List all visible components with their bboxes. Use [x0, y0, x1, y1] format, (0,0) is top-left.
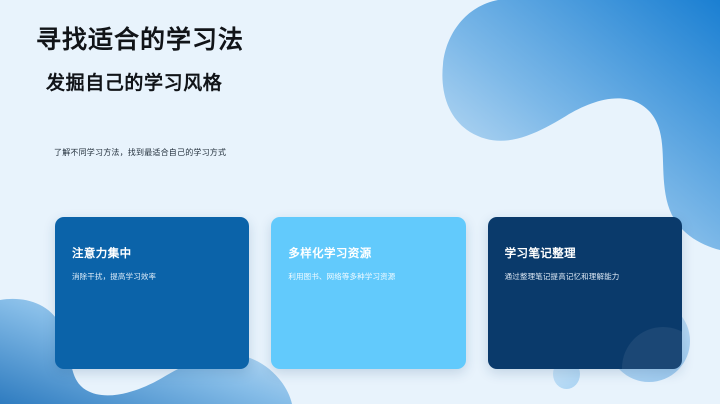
feature-card[interactable]: 多样化学习资源 利用图书、网络等多种学习资源 [271, 217, 465, 369]
feature-card-description: 利用图书、网络等多种学习资源 [288, 271, 451, 282]
feature-card-body: 学习笔记整理 通过整理笔记提高记忆和理解能力 [505, 247, 668, 282]
card-decorative-circle [622, 327, 682, 369]
wave-shape-top-right [442, 0, 720, 250]
feature-card-body: 多样化学习资源 利用图书、网络等多种学习资源 [288, 247, 451, 282]
feature-card-title: 注意力集中 [72, 247, 235, 262]
feature-card-description: 通过整理笔记提高记忆和理解能力 [505, 271, 668, 282]
feature-card-body: 注意力集中 消除干扰，提高学习效率 [72, 247, 235, 282]
feature-card[interactable]: 注意力集中 消除干扰，提高学习效率 [55, 217, 249, 369]
feature-card-row: 注意力集中 消除干扰，提高学习效率 多样化学习资源 利用图书、网络等多种学习资源… [55, 217, 682, 369]
feature-card-title: 学习笔记整理 [505, 247, 668, 262]
slide-title: 寻找适合的学习法 [36, 24, 244, 56]
feature-card[interactable]: 学习笔记整理 通过整理笔记提高记忆和理解能力 [488, 217, 682, 369]
presentation-slide: 寻找适合的学习法 发掘自己的学习风格 了解不同学习方法，找到最适合自己的学习方式… [0, 0, 720, 404]
feature-card-title: 多样化学习资源 [288, 247, 451, 262]
slide-subtitle: 发掘自己的学习风格 [46, 70, 222, 97]
slide-lead-text: 了解不同学习方法，找到最适合自己的学习方式 [54, 146, 226, 159]
feature-card-description: 消除干扰，提高学习效率 [72, 271, 235, 282]
